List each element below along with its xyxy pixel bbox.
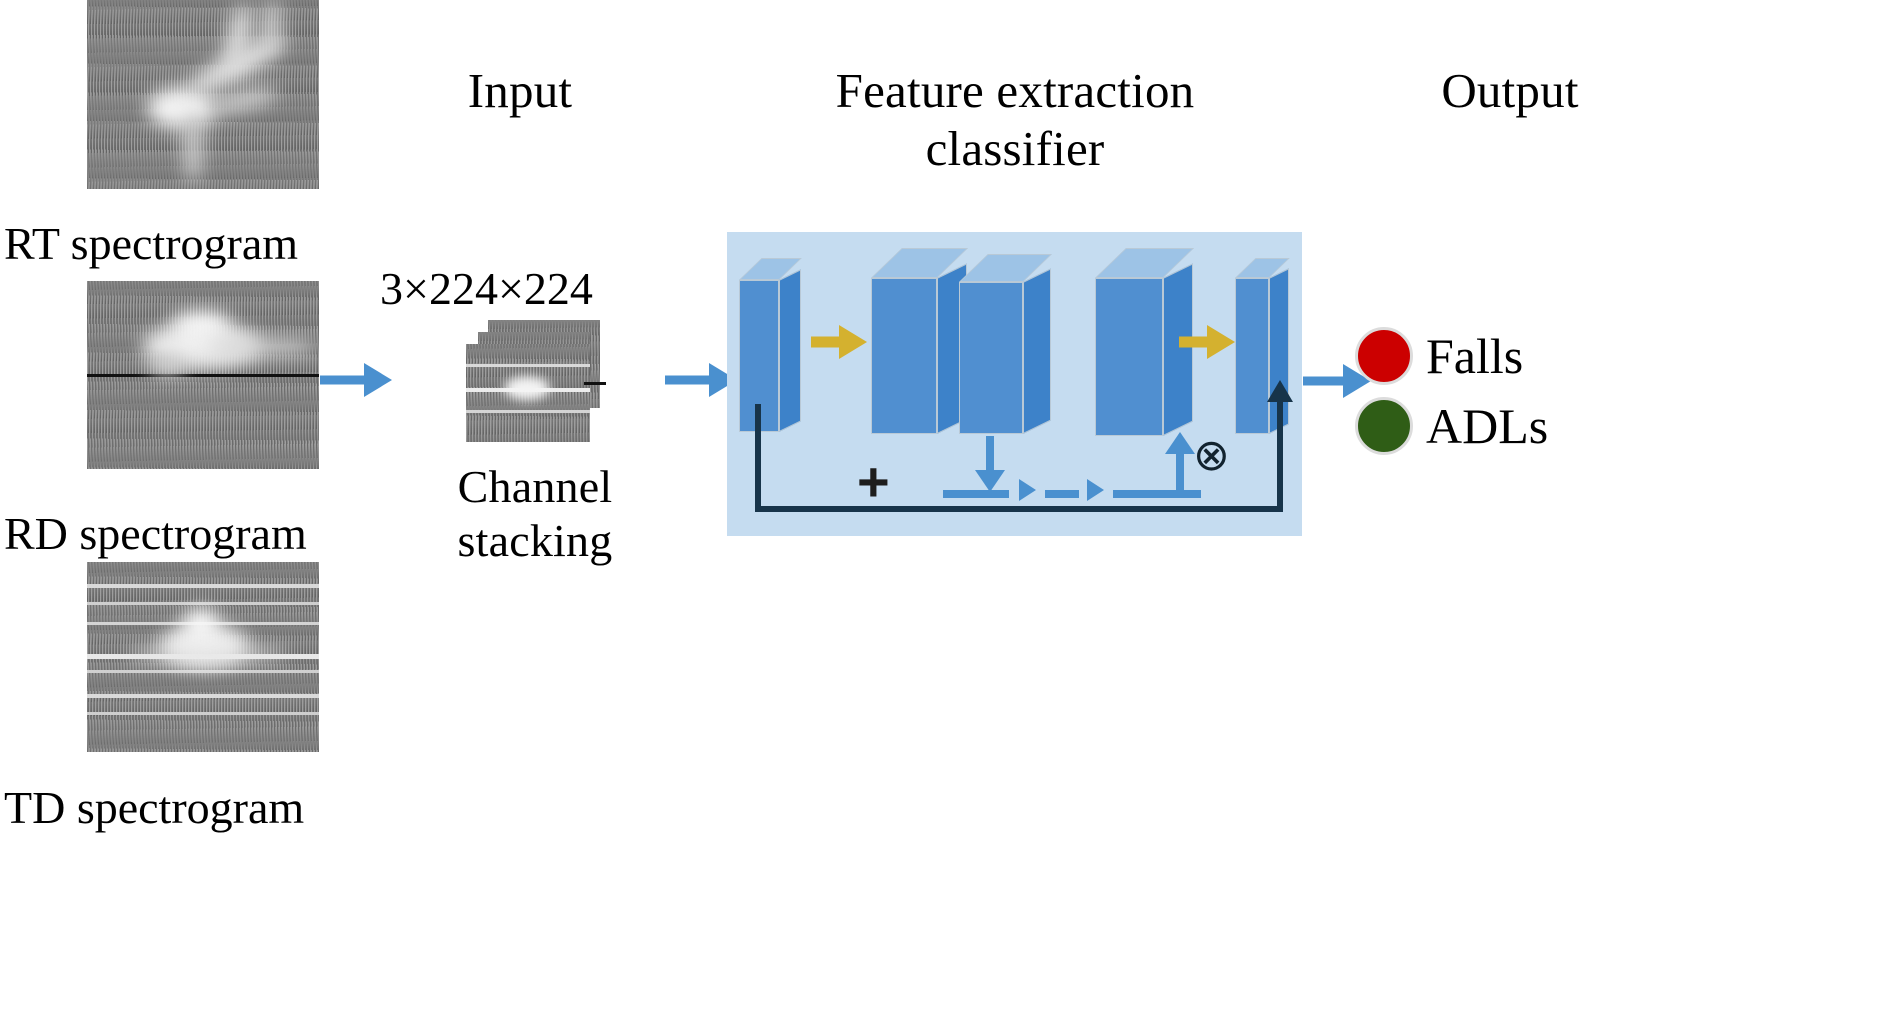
attention-segment-2 — [1045, 490, 1079, 498]
rd-spectrogram-image — [87, 281, 319, 469]
residual-plus-symbol: + — [857, 454, 890, 510]
adls-class-label: ADLs — [1426, 401, 1548, 451]
attention-up-arrow — [1163, 432, 1197, 490]
attention-arrowhead-1 — [1019, 479, 1036, 501]
input-dimensions-label: 3×224×224 — [380, 262, 593, 315]
attention-arrowhead-2 — [1087, 479, 1104, 501]
falls-class-dot — [1355, 327, 1413, 385]
adls-class-dot — [1355, 397, 1413, 455]
input-heading: Input — [400, 62, 640, 120]
conv-block-1 — [739, 252, 811, 432]
channel-stack-group — [464, 320, 614, 450]
attention-down-arrow — [973, 436, 1007, 492]
output-heading: Output — [1300, 62, 1720, 120]
falls-class-label: Falls — [1426, 331, 1523, 381]
attention-segment-1 — [943, 490, 1009, 498]
conv-block-5 — [1235, 250, 1301, 434]
attention-multiply-symbol: ⊗ — [1193, 434, 1230, 478]
feature-extraction-heading: Feature extraction classifier — [775, 62, 1255, 178]
residual-wire-arrowhead — [1267, 380, 1293, 402]
conv-block-3 — [959, 246, 1063, 434]
rt-spectrogram-image — [87, 0, 319, 189]
residual-wire-right-vertical — [1277, 400, 1283, 512]
residual-wire-left-vertical — [755, 404, 761, 512]
residual-wire-bottom — [755, 506, 1283, 512]
rt-spectrogram-label: RT spectrogram — [4, 218, 424, 271]
td-spectrogram-label: TD spectrogram — [4, 782, 424, 835]
rd-spectrogram-label: RD spectrogram — [4, 508, 424, 561]
td-spectrogram-image — [87, 562, 319, 752]
channel-stacking-label: Channel stacking — [400, 460, 670, 569]
feature-extraction-panel: + ⊗ — [727, 232, 1302, 536]
attention-segment-3 — [1113, 490, 1201, 498]
